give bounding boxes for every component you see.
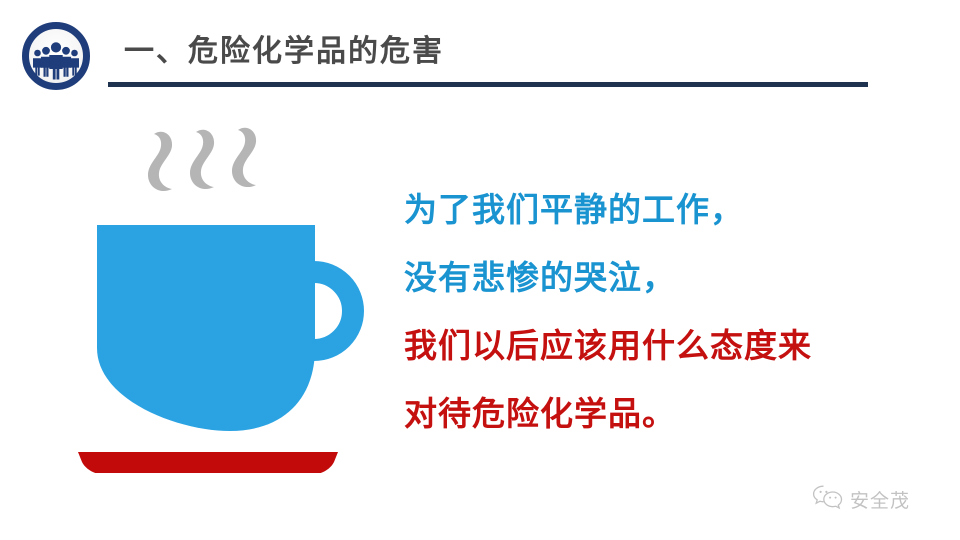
message-block: 为了我们平静的工作， 没有悲惨的哭泣， 我们以后应该用什么态度来 对待危险化学品…	[404, 176, 934, 448]
coffee-cup-illustration	[70, 118, 390, 473]
message-line: 对待危险化学品。	[404, 380, 934, 448]
wechat-icon	[812, 484, 844, 515]
watermark: 安全茂	[812, 482, 944, 516]
slide-canvas: 一、危险化学品的危害 为了我们平静的工作， 没有悲惨的哭泣， 我们以后应该用什么…	[0, 0, 960, 540]
message-line: 没有悲惨的哭泣，	[404, 244, 934, 312]
people-group-badge-icon	[20, 20, 92, 92]
message-line: 我们以后应该用什么态度来	[404, 312, 934, 380]
page-title: 一、危险化学品的危害	[124, 30, 444, 74]
cup-saucer	[78, 452, 338, 473]
header-divider	[108, 82, 868, 87]
message-line: 为了我们平静的工作，	[404, 176, 934, 244]
cup-body	[97, 225, 315, 431]
watermark-label: 安全茂	[850, 486, 910, 513]
steam-icon	[148, 128, 256, 191]
slide-header: 一、危险化学品的危害	[0, 0, 960, 100]
